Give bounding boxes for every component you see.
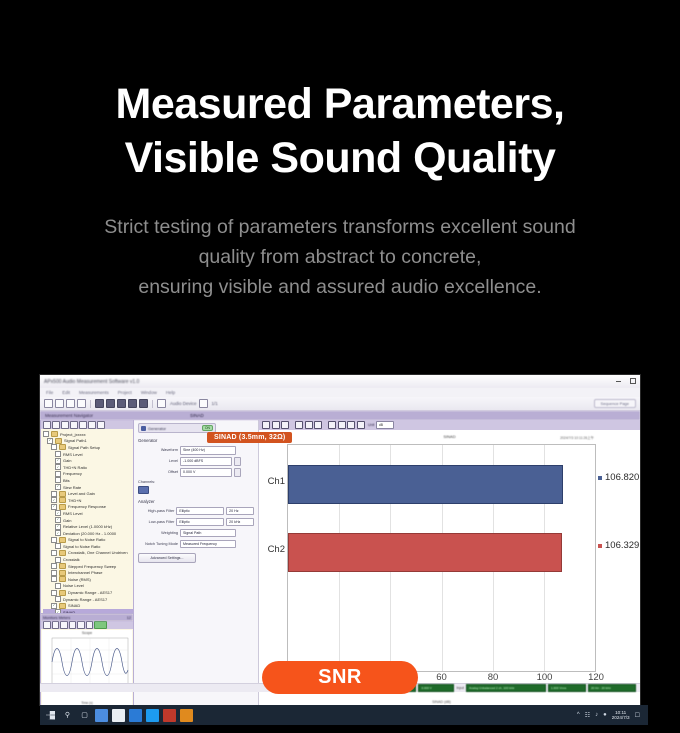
folder-icon [59, 563, 66, 569]
scope-run-button[interactable] [94, 621, 107, 629]
search-icon[interactable]: ⚲ [61, 709, 74, 722]
tree-item-label: Gain [63, 518, 71, 523]
tree-checkbox[interactable]: ✓ [51, 504, 57, 510]
file-explorer-icon[interactable] [95, 709, 108, 722]
print-icon[interactable] [77, 399, 86, 408]
audio-device-icon[interactable] [157, 399, 166, 408]
weighting-select[interactable]: Signal Path [180, 529, 236, 538]
tree-checkbox[interactable]: ✓ [55, 524, 61, 530]
channels-label: Channels: [138, 480, 254, 484]
tree-item-label: THD+N [68, 498, 81, 503]
legend-entry-ch1: 106.820 dB [598, 472, 640, 483]
folder-icon [59, 550, 66, 556]
highpass-label: High-pass Filter [138, 509, 174, 513]
tree-item[interactable]: ✓THD+N Ratio [43, 464, 133, 471]
unit-select[interactable]: dB [376, 421, 394, 430]
input-value-2: 1.000 Vrms [548, 684, 586, 692]
input-value-1: Analog Unbalanced 2 ch, 100 kHz [466, 684, 546, 692]
signal-path-icon[interactable] [139, 399, 148, 408]
tree-item-label: Crosstalk [63, 557, 80, 562]
weighting-row: Weighting Signal Path [138, 529, 254, 538]
level-row: Level -1.000 dBFS [138, 457, 254, 466]
navigator-header: Measurement Navigator SINAD [40, 411, 640, 420]
task-view-icon[interactable]: ▢ [78, 709, 91, 722]
start-icon[interactable] [44, 709, 57, 722]
waveform-row: Waveform Sine (400 Hz) [138, 446, 254, 455]
level-label: Level [138, 459, 178, 463]
offset-input[interactable]: 0.000 V [180, 468, 232, 477]
legend-swatch-ch1 [598, 476, 602, 480]
chart-toolbar[interactable]: SINAD (3.5mm, 32Ω) Unit dB [259, 420, 640, 430]
word-icon[interactable] [163, 709, 176, 722]
tree-checkbox[interactable] [55, 557, 61, 563]
clock-date: 2024/7/3 [612, 715, 630, 720]
navigator-settings-icon[interactable] [97, 421, 105, 429]
audio-device-label: Audio Device [170, 401, 197, 406]
chart-timestamp: 2024/7/3 10:11:26上午 [560, 435, 594, 440]
input-value-3: 20 Hz - 20 kHz [588, 684, 636, 692]
scope-cursor-icon[interactable] [69, 621, 77, 629]
menu-item-window[interactable]: Window [141, 390, 157, 395]
scope-zoom-out-icon[interactable] [52, 621, 60, 629]
tree-item-label: Signal to Noise Ratio [63, 544, 100, 549]
lowpass-frequency[interactable]: 20 kHz [226, 518, 254, 527]
tree-checkbox[interactable]: ✓ [55, 484, 61, 490]
advanced-settings-button[interactable]: Advanced Settings... [138, 553, 196, 563]
move-up-icon[interactable] [79, 421, 87, 429]
folder-icon [59, 576, 66, 582]
tree-item-label: Deviation (20.000 Hz - 1.0000 [63, 531, 116, 536]
hero-section: Measured Parameters, Visible Sound Quali… [0, 0, 680, 302]
notifications-icon[interactable]: ☐ [635, 712, 640, 719]
app-icon[interactable] [180, 709, 193, 722]
left-panel: Project_jxxxxx✓Signal Path1Signal Path S… [40, 420, 134, 705]
tree-checkbox[interactable]: ✓ [55, 517, 61, 523]
generator-header-label: Generator [148, 426, 166, 431]
tree-item[interactable]: Stepped Frequency Sweep [43, 563, 133, 570]
clock-time: 10:11 [615, 710, 626, 715]
tree-item[interactable]: Dynamic Range - AES17 [43, 589, 133, 596]
tree-item[interactable]: Interchannel Phase [43, 569, 133, 576]
legend-swatch-ch2 [598, 544, 602, 548]
subtitle-line-2: quality from abstract to concrete, [50, 242, 630, 272]
window-title: APx500 Audio Measurement Software v1.0 [44, 379, 139, 385]
delete-measurement-icon[interactable] [70, 421, 78, 429]
tree-item-label: THD+N Ratio [63, 465, 87, 470]
save-project-icon[interactable] [66, 399, 75, 408]
hero-subtitle: Strict testing of parameters transforms … [50, 212, 630, 303]
promo-page: Measured Parameters, Visible Sound Quali… [0, 0, 680, 733]
highpass-frequency[interactable]: 20 Hz [226, 507, 254, 516]
taskbar-clock[interactable]: 10:11 2024/7/3 [612, 710, 630, 721]
menu-bar[interactable]: File Edit Measurements Project Window He… [40, 388, 640, 397]
tree-item-label: Signal Path1 [64, 438, 87, 443]
bar-chart: Ch1 Ch2 [287, 444, 596, 672]
category-label-ch2: Ch2 [268, 544, 285, 555]
tree-item-label: Dynamic Range - AES17 [68, 590, 112, 595]
offset-row: Offset 0.000 V [138, 468, 254, 477]
tree-item[interactable]: ✓Slew Rate [43, 484, 133, 491]
tree-item[interactable]: ✓RMS Level [43, 510, 133, 517]
folder-icon [59, 590, 66, 596]
tree-checkbox[interactable] [55, 451, 61, 457]
sequence-icon[interactable] [117, 399, 126, 408]
chart-grid-icon[interactable] [314, 421, 322, 429]
tree-item[interactable]: Project_jxxxxx [43, 431, 133, 438]
tree-checkbox[interactable] [51, 537, 57, 543]
toolbar-divider [90, 400, 91, 408]
level-stepper[interactable] [234, 457, 241, 466]
tree-item[interactable]: ✓THD+N [43, 497, 133, 504]
tree-item-label: Noise Level [63, 583, 84, 588]
sequence-page-button[interactable]: Sequence Page [594, 399, 636, 408]
open-project-icon[interactable] [55, 399, 64, 408]
tree-item-label: SINAD [68, 603, 80, 608]
generator-header[interactable]: Generator ON [138, 423, 216, 433]
offset-stepper[interactable] [234, 468, 241, 477]
tree-checkbox[interactable] [51, 590, 57, 596]
tree-item[interactable]: ✓Signal Path1 [43, 438, 133, 445]
tree-item[interactable]: ✓Frequency Response [43, 504, 133, 511]
waveform-label: Waveform [138, 448, 178, 452]
network-icon[interactable]: ☷ [585, 712, 590, 719]
navigator-toolbar[interactable] [41, 420, 133, 429]
scope-fit-icon[interactable] [60, 621, 68, 629]
subtitle-line-1: Strict testing of parameters transforms … [50, 212, 630, 242]
main-toolbar[interactable]: Audio Device 1/1 Sequence Page [40, 397, 640, 411]
tree-item-label: Bits [63, 478, 70, 483]
menu-item-project[interactable]: Project [118, 390, 132, 395]
tree-checkbox[interactable] [55, 543, 61, 549]
tree-item[interactable]: Noise Level [43, 583, 133, 590]
stop-measurement-icon[interactable] [106, 399, 115, 408]
tree-item[interactable]: Signal to Noise Ratio [43, 537, 133, 544]
tree-item[interactable]: ✓Deviation (20.000 Hz - 1.0000 [43, 530, 133, 537]
tree-checkbox[interactable] [51, 491, 57, 497]
tree-item[interactable]: Signal to Noise Ratio [43, 543, 133, 550]
legend-entry-ch2: 106.329 dB [598, 540, 640, 551]
tree-checkbox[interactable] [55, 596, 61, 602]
tree-item-label: Gain [63, 458, 71, 463]
tree-item[interactable]: ✓Relative Level (1.0000 kHz) [43, 523, 133, 530]
window-controls[interactable] [616, 378, 636, 384]
bar-ch1[interactable]: Ch1 [288, 465, 563, 504]
tree-checkbox[interactable]: ✓ [55, 458, 61, 464]
scope-plot-title: Scope [42, 631, 132, 635]
lowpass-label: Low-pass Filter [138, 520, 174, 524]
x-axis-tick: 120 [588, 672, 604, 683]
tree-item-label: Signal Path Setup [68, 445, 100, 450]
volume-icon[interactable]: ♪ [595, 712, 598, 718]
scope-plot: Scope Instantaneous Level (V) [42, 630, 132, 705]
notch-label: Notch Tuning Mode [138, 542, 178, 546]
folder-icon [55, 438, 62, 444]
value-label-ch2: 106.329 dB [605, 540, 640, 551]
folder-icon [59, 504, 66, 510]
tree-item-label: Signal to Noise Ratio [68, 537, 105, 542]
expand-all-icon[interactable] [43, 421, 51, 429]
tree-checkbox[interactable]: ✓ [55, 464, 61, 470]
tree-item-label: Slew Rate [63, 485, 81, 490]
tree-checkbox[interactable] [51, 563, 57, 569]
tree-item-label: Relative Level (1.0000 kHz) [63, 524, 112, 529]
folder-icon [51, 431, 58, 437]
tree-item-label: RMS Level [63, 452, 83, 457]
minimize-icon[interactable] [616, 381, 621, 382]
tree-item[interactable]: Crosstalk, One Channel Undriven [43, 550, 133, 557]
tree-item[interactable]: ✓Gain [43, 517, 133, 524]
add-measurement-icon[interactable] [61, 421, 69, 429]
weighting-label: Weighting [138, 531, 178, 535]
channel-count-icon[interactable] [199, 399, 208, 408]
tree-checkbox[interactable] [43, 431, 49, 437]
run-measurement-icon[interactable] [95, 399, 104, 408]
new-project-icon[interactable] [44, 399, 53, 408]
tree-item-label: Interchannel Phase [68, 570, 102, 575]
chart-bar-icon[interactable] [305, 421, 313, 429]
toolbar-divider-2 [152, 400, 153, 408]
value-legend: 106.820 dB 106.329 dB [596, 444, 640, 672]
level-input[interactable]: -1.000 dBFS [180, 457, 232, 466]
tree-checkbox[interactable] [51, 576, 57, 582]
folder-icon [59, 491, 66, 497]
store-icon[interactable] [129, 709, 142, 722]
notch-row: Notch Tuning Mode Measured Frequency [138, 540, 254, 549]
tree-checkbox[interactable]: ✓ [51, 603, 57, 609]
collapse-all-icon[interactable] [52, 421, 60, 429]
windows-taskbar[interactable]: ⚲ ▢ ^ ☷ ♪ ● 10:11 2024/7/3 ☐ [40, 705, 648, 725]
tree-item-label: Frequency [63, 471, 82, 476]
tree-checkbox[interactable] [51, 550, 57, 556]
headline-line-2: Visible Sound Quality [0, 132, 680, 186]
tree-item[interactable]: ✓Gain [43, 457, 133, 464]
unit-label: Unit [368, 423, 374, 427]
chart-settings-icon[interactable] [357, 421, 365, 429]
tree-item-label: Level and Gain [68, 491, 95, 496]
monitors-header: Monitors Meters 12 [41, 614, 133, 621]
lowpass-select[interactable]: Elliptic [176, 518, 224, 527]
tree-item-label: Frequency Response [68, 504, 106, 509]
offset-label: Offset [138, 470, 178, 474]
tree-checkbox[interactable]: ✓ [47, 438, 53, 444]
chart-export-icon[interactable] [272, 421, 280, 429]
chart-print-icon[interactable] [281, 421, 289, 429]
battery-icon[interactable]: ● [603, 712, 607, 718]
scope-save-icon[interactable] [86, 621, 94, 629]
tree-item[interactable]: Noise (RMS) [43, 576, 133, 583]
tree-item[interactable]: ✓SINAD [43, 602, 133, 609]
tree-item[interactable]: Crosstalk [43, 556, 133, 563]
x-axis-tick: 60 [436, 672, 447, 683]
tree-item-label: SINAD [63, 610, 75, 613]
notepad-icon[interactable] [112, 709, 125, 722]
application-window: APx500 Audio Measurement Software v1.0 F… [40, 375, 640, 705]
page-title: Measured Parameters, Visible Sound Quali… [0, 78, 680, 186]
measurement-navigator: Project_jxxxxx✓Signal Path1Signal Path S… [41, 420, 133, 613]
tree-item-label: Project_jxxxxx [60, 432, 86, 437]
channels-selector[interactable] [138, 486, 149, 494]
channel-count-label: 1/1 [212, 401, 218, 406]
tree-item[interactable]: Signal Path Setup [43, 444, 133, 451]
subtitle-line-3: ensuring visible and assured audio excel… [50, 272, 630, 302]
tree-checkbox[interactable] [55, 477, 61, 483]
tree-item[interactable]: Level and Gain [43, 490, 133, 497]
report-icon[interactable] [128, 399, 137, 408]
chart-copy-icon[interactable] [262, 421, 270, 429]
generator-icon [141, 426, 146, 431]
monitors-title: Monitors Meters [43, 616, 70, 620]
analyzer-section-title: Analyzer [138, 499, 254, 504]
category-label-ch1: Ch1 [268, 476, 285, 487]
x-axis-tick: 100 [537, 672, 553, 683]
tree-checkbox[interactable]: ✓ [51, 497, 57, 503]
folder-icon [59, 444, 66, 450]
tree-item[interactable]: Bits [43, 477, 133, 484]
maximize-icon[interactable] [630, 378, 636, 384]
menu-item-file[interactable]: File [46, 390, 53, 395]
monitors-index: 12 [127, 616, 131, 620]
tree-item-label: RMS Level [63, 511, 83, 516]
system-tray[interactable]: ^ ☷ ♪ ● 10:11 2024/7/3 ☐ [577, 710, 644, 721]
output-value-2: 0.000 V [418, 684, 454, 692]
folder-icon [59, 497, 66, 503]
tree-checkbox[interactable] [55, 583, 61, 589]
tree-checkbox[interactable] [51, 570, 57, 576]
snr-button[interactable]: SNR [262, 661, 418, 694]
folder-icon [59, 570, 66, 576]
x-axis-tick: 80 [488, 672, 499, 683]
highpass-row: High-pass Filter Elliptic 20 Hz [138, 507, 254, 516]
menu-item-measurements[interactable]: Measurements [79, 390, 109, 395]
tree-item[interactable]: Frequency [43, 471, 133, 478]
chart-axis-icon[interactable] [338, 421, 346, 429]
folder-icon [59, 603, 66, 609]
window-titlebar: APx500 Audio Measurement Software v1.0 [40, 375, 640, 388]
scope-zoom-in-icon[interactable] [43, 621, 51, 629]
chevron-up-icon[interactable]: ^ [577, 712, 580, 718]
menu-item-edit[interactable]: Edit [62, 390, 70, 395]
generator-on-toggle[interactable]: ON [202, 425, 213, 431]
tree-item[interactable]: ✓SINAD [43, 609, 133, 613]
menu-item-help[interactable]: Help [166, 390, 175, 395]
tree-item-label: Noise (RMS) [68, 577, 91, 582]
tree-checkbox[interactable]: ✓ [55, 510, 61, 516]
measurement-tree[interactable]: Project_jxxxxx✓Signal Path1Signal Path S… [41, 429, 133, 613]
settings-panel: Generator ON Generator Waveform Sine (40… [134, 420, 259, 705]
move-down-icon[interactable] [88, 421, 96, 429]
tree-item[interactable]: RMS Level [43, 451, 133, 458]
active-measurement-tab[interactable]: SINAD [190, 413, 204, 418]
edge-icon[interactable] [146, 709, 159, 722]
tree-item[interactable]: Dynamic Range - AES17 [43, 596, 133, 603]
chart-x-label: SINAD (dB) [287, 700, 596, 704]
lowpass-row: Low-pass Filter Elliptic 20 kHz [138, 518, 254, 527]
chart-legend-icon[interactable] [328, 421, 336, 429]
chart-cursor-icon[interactable] [347, 421, 355, 429]
headline-line-1: Measured Parameters, [116, 80, 565, 128]
input-label: Input [456, 686, 464, 690]
tree-checkbox[interactable] [55, 471, 61, 477]
scope-grid-icon[interactable] [77, 621, 85, 629]
folder-icon [59, 537, 66, 543]
tree-item-label: Stepped Frequency Sweep [68, 564, 116, 569]
waveform-select[interactable]: Sine (400 Hz) [180, 446, 236, 455]
highpass-select[interactable]: Elliptic [176, 507, 224, 516]
chart-table-icon[interactable] [295, 421, 303, 429]
tree-item-label: Dynamic Range - AES17 [63, 597, 107, 602]
bar-ch2[interactable]: Ch2 [288, 533, 562, 572]
navigator-title: Measurement Navigator [45, 413, 93, 418]
tree-checkbox[interactable]: ✓ [55, 530, 61, 536]
notch-select[interactable]: Measured Frequency [180, 540, 236, 549]
value-label-ch1: 106.820 dB [605, 472, 640, 483]
tree-checkbox[interactable]: ✓ [55, 609, 61, 613]
scope-toolbar[interactable] [41, 621, 133, 629]
tree-item-label: Crosstalk, One Channel Undriven [68, 550, 128, 555]
tree-checkbox[interactable] [51, 444, 57, 450]
sinad-badge: SINAD (3.5mm, 32Ω) [207, 432, 292, 443]
